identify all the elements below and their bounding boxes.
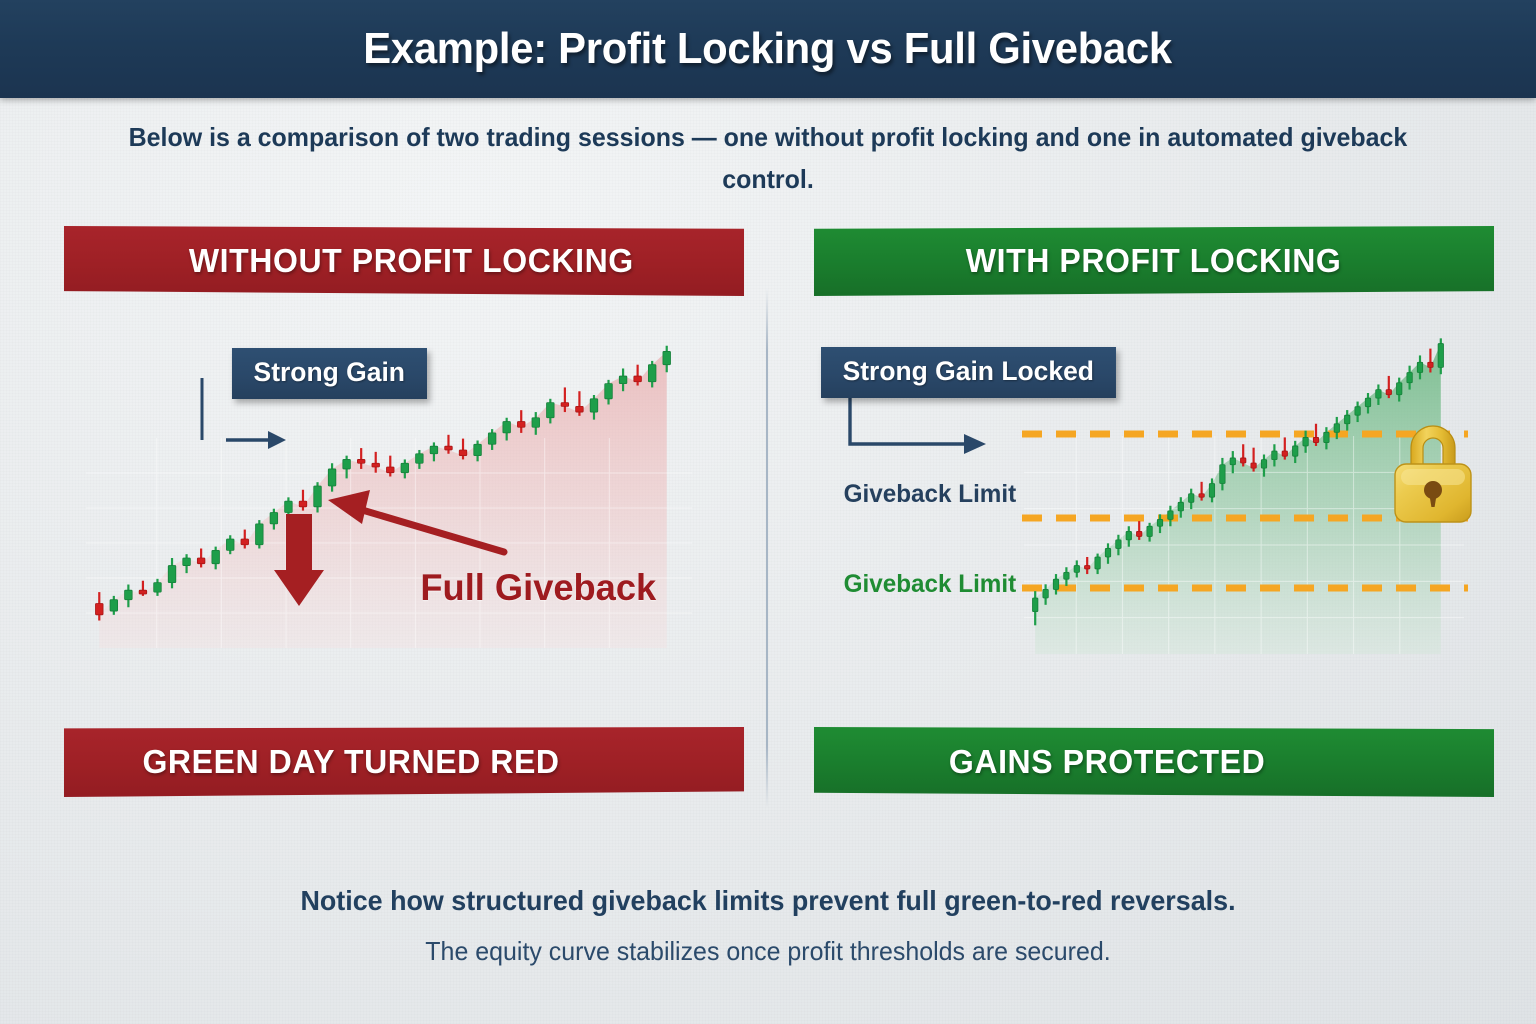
intro-text: Below is a comparison of two trading ses… [123,116,1413,200]
page-title: Example: Profit Locking vs Full Giveback [364,24,1173,74]
annotation-full-giveback: Full Giveback [420,567,656,609]
label-giveback-limit-secondary: Giveback Limit [844,570,1017,599]
footer-line-1: Notice how structured giveback limits pr… [144,878,1392,924]
header-bar: Example: Profit Locking vs Full Giveback [0,0,1536,98]
callout-strong-gain-locked: Strong Gain Locked [821,347,1116,398]
banner-with-profit-locking-label: WITH PROFIT LOCKING [966,242,1342,280]
banner-without-profit-locking-label: WITHOUT PROFIT LOCKING [189,242,634,280]
callout-strong-gain: Strong Gain [232,348,427,399]
label-giveback-limit-primary: Giveback Limit [844,480,1017,509]
footer-line-2: The equity curve stabilizes once profit … [144,924,1392,978]
banner-with-profit-locking: WITH PROFIT LOCKING [814,226,1494,296]
banner-without-profit-locking: WITHOUT PROFIT LOCKING [64,226,744,296]
panel-without-profit-locking: WITHOUT PROFIT LOCKING GREEN DAY TURNED … [64,222,770,812]
padlock-icon [1385,412,1481,532]
footer: Notice how structured giveback limits pr… [118,878,1418,978]
banner-green-day-turned-red-label: GREEN DAY TURNED RED [142,743,559,781]
banner-gains-protected: GAINS PROTECTED [814,727,1494,797]
banner-green-day-turned-red: GREEN DAY TURNED RED [64,727,744,797]
banner-gains-protected-label: GAINS PROTECTED [949,743,1265,781]
